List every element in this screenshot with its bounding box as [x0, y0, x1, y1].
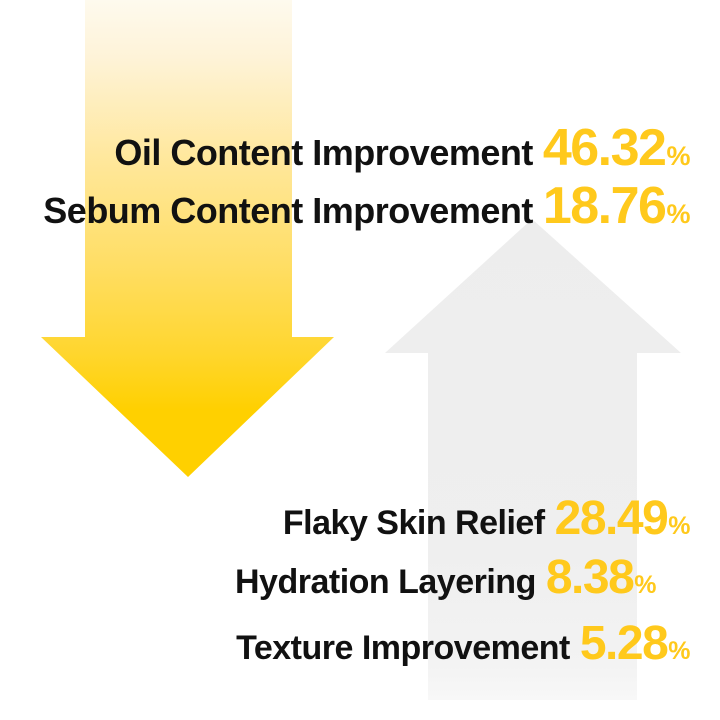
- metric-label: Texture Improvement: [236, 631, 570, 665]
- metric-unit: %: [666, 201, 690, 228]
- metric-value: 8.38: [546, 554, 633, 602]
- down-arrow-icon: [41, 0, 334, 477]
- metric-unit: %: [668, 639, 690, 664]
- metric-label: Flaky Skin Relief: [283, 506, 545, 540]
- metric-unit: %: [668, 514, 690, 539]
- metric-value: 18.76: [543, 180, 666, 232]
- metric-label: Hydration Layering: [235, 565, 536, 599]
- metric-unit: %: [666, 143, 690, 170]
- infographic-canvas: Oil Content Improvement 46.32 % Sebum Co…: [0, 0, 720, 720]
- metric-label: Oil Content Improvement: [114, 135, 533, 171]
- metric-row-oil-content-improvement: Oil Content Improvement 46.32 %: [114, 122, 690, 174]
- metric-value: 5.28: [580, 620, 667, 668]
- metric-value: 46.32: [543, 122, 666, 174]
- metric-label: Sebum Content Improvement: [43, 193, 533, 229]
- metric-row-hydration-layering: Hydration Layering 8.38 %: [235, 554, 656, 602]
- metric-value: 28.49: [555, 495, 668, 543]
- arrow-graphics-layer: [0, 0, 720, 720]
- metric-row-texture-improvement: Texture Improvement 5.28 %: [236, 620, 690, 668]
- metric-row-flaky-skin-relief: Flaky Skin Relief 28.49 %: [283, 495, 690, 543]
- metric-row-sebum-content-improvement: Sebum Content Improvement 18.76 %: [43, 180, 690, 232]
- metric-unit: %: [634, 573, 656, 598]
